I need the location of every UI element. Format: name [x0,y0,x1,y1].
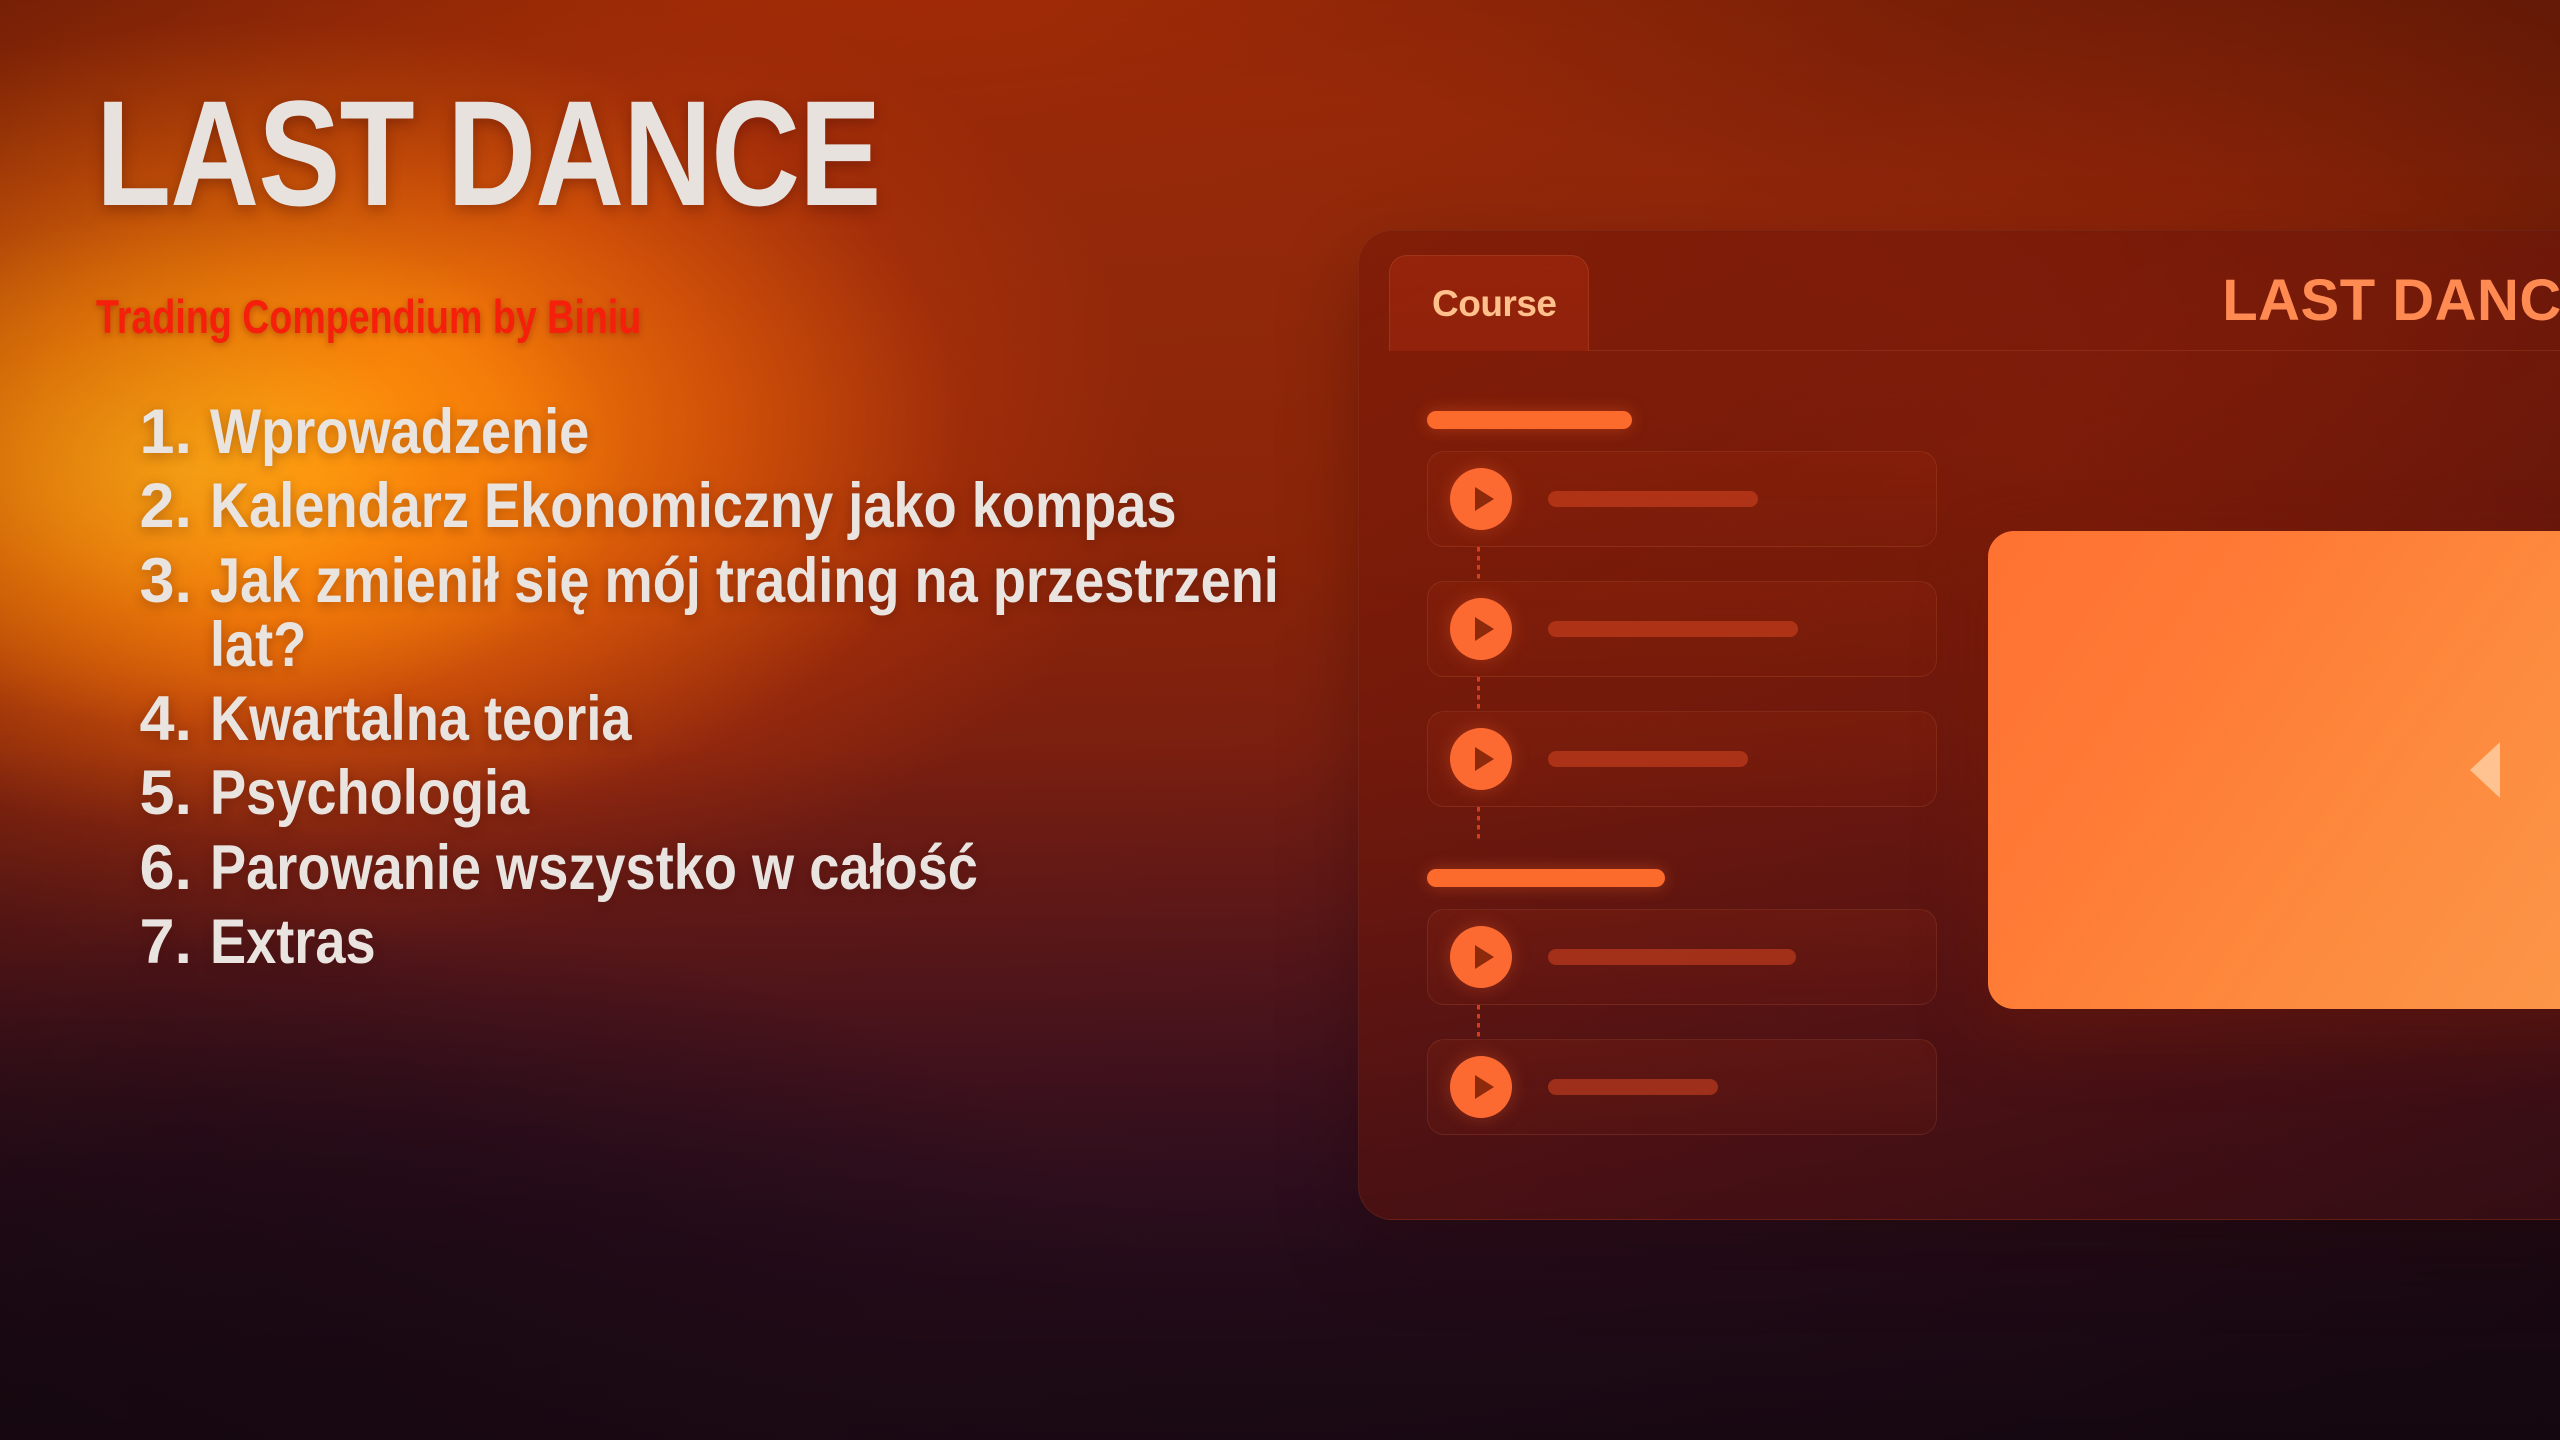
section-header-bar [1427,411,1632,429]
agenda-item-label: Jak zmienił się mój trading na przestrze… [210,549,1325,678]
agenda-item: Kwartalna teoria [118,687,1328,751]
lesson-title-placeholder [1548,751,1748,767]
slide-text-column: LAST DANCE Trading Compendium by Biniu W… [0,0,1350,1440]
page-title: LAST DANCE [96,78,880,228]
video-controls [2470,734,2560,806]
lesson-connector [1477,677,1480,711]
play-icon[interactable] [1450,728,1512,790]
slide-canvas: LAST DANCE Trading Compendium by Biniu W… [0,0,2560,1440]
course-player-mockup: Course LAST DANCE [1358,230,2560,1220]
play-icon[interactable] [1450,1056,1512,1118]
tab-course-label: Course [1432,283,1556,325]
agenda-item: Jak zmienił się mój trading na przestrze… [118,549,1328,678]
agenda-item: Parowanie wszystko w całość [118,836,1328,900]
agenda-item: Extras [118,910,1328,974]
agenda-item: Kalendarz Ekonomiczny jako kompas [118,474,1328,538]
agenda-item-label: Extras [210,910,1325,974]
agenda-item-label: Parowanie wszystko w całość [210,836,1325,900]
agenda-list: Wprowadzenie Kalendarz Ekonomiczny jako … [118,400,1328,984]
list-item[interactable] [1427,1039,1937,1135]
tab-bar-divider [1589,350,2560,351]
triangle-left-icon[interactable] [2470,742,2500,798]
lesson-connector [1477,1005,1480,1039]
play-icon[interactable] [1450,926,1512,988]
agenda-item-label: Kalendarz Ekonomiczny jako kompas [210,474,1325,538]
lesson-title-placeholder [1548,491,1758,507]
play-icon[interactable] [1450,468,1512,530]
agenda-item-label: Kwartalna teoria [210,687,1325,751]
list-item[interactable] [1427,909,1937,1005]
lesson-title-placeholder [1548,949,1796,965]
lesson-title-placeholder [1548,621,1798,637]
page-subtitle: Trading Compendium by Biniu [96,293,641,340]
agenda-item: Psychologia [118,761,1328,825]
agenda-item: Wprowadzenie [118,400,1328,464]
course-title: LAST DANCE [2222,267,2560,334]
list-item[interactable] [1427,581,1937,677]
list-item[interactable] [1427,711,1937,807]
video-player[interactable] [1988,531,2560,1009]
section-header-bar [1427,869,1665,887]
lesson-connector [1477,547,1480,581]
list-item[interactable] [1427,451,1937,547]
lesson-connector [1477,807,1480,841]
lesson-list [1427,411,1937,1135]
lesson-title-placeholder [1548,1079,1718,1095]
agenda-item-label: Wprowadzenie [210,400,1325,464]
tab-course[interactable]: Course [1389,255,1589,351]
agenda-item-label: Psychologia [210,761,1325,825]
play-icon[interactable] [1450,598,1512,660]
